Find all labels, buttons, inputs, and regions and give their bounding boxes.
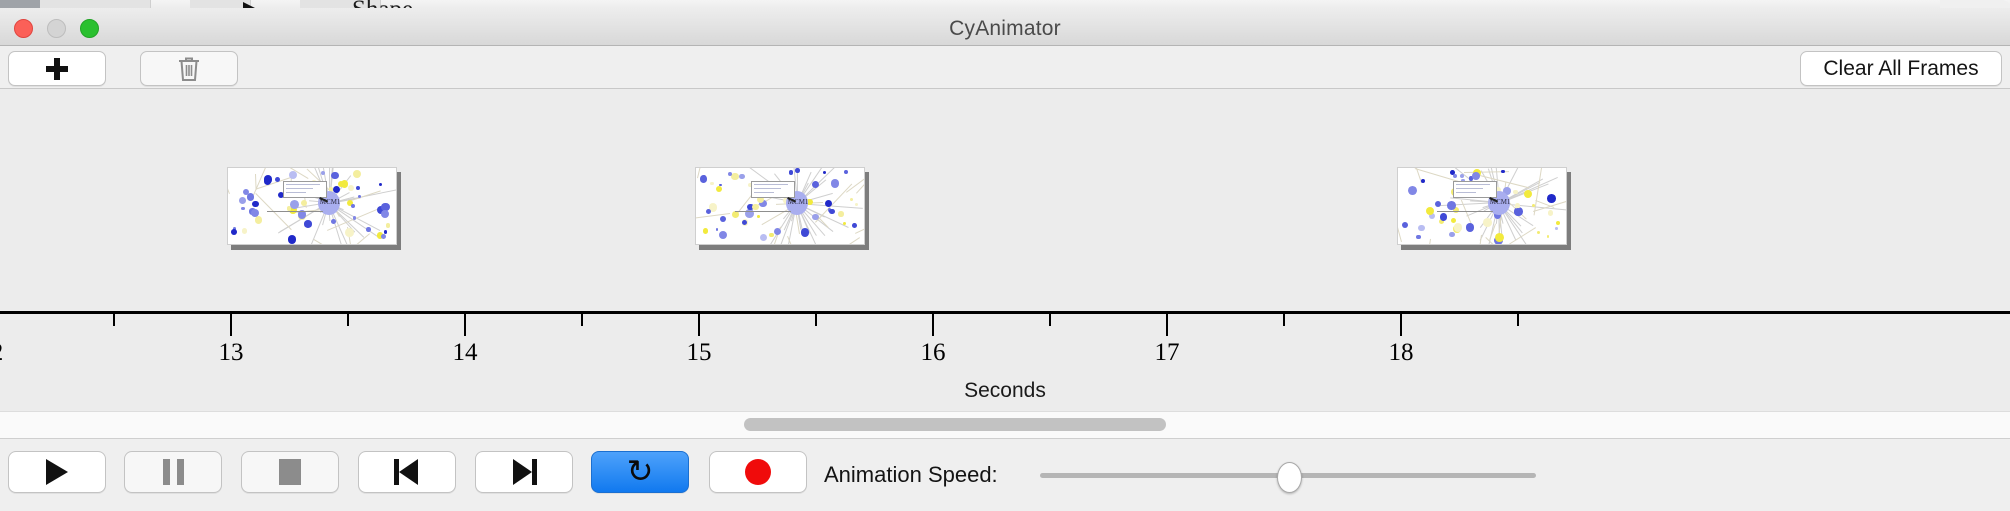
network-node (850, 198, 853, 201)
network-edge (351, 190, 381, 201)
frame-strip: MCM1MCM1MCM1 (0, 89, 2010, 311)
network-annotation-line (1456, 188, 1483, 189)
network-node (341, 180, 348, 187)
network-annotation-line (286, 188, 313, 189)
network-node (1418, 225, 1425, 232)
network-annotation-line (754, 192, 774, 193)
skip-to-end-button[interactable] (475, 451, 573, 493)
network-node (1408, 186, 1417, 195)
network-node (720, 216, 726, 222)
network-edge (846, 169, 865, 194)
network-node (251, 209, 259, 217)
network-node (1435, 201, 1441, 207)
network-edge (1475, 235, 1482, 245)
network-node (852, 223, 857, 228)
network-caption (735, 211, 791, 213)
clear-all-frames-button[interactable]: Clear All Frames (1800, 51, 2002, 86)
record-icon (745, 459, 771, 485)
network-node (366, 227, 371, 232)
clear-all-frames-label: Clear All Frames (1823, 57, 1978, 81)
slider-thumb[interactable] (1277, 462, 1302, 493)
network-node (239, 197, 246, 204)
network-node (1447, 201, 1456, 210)
network-node (381, 210, 389, 218)
network-node (252, 201, 259, 208)
axis-tick-label: 18 (1389, 339, 1414, 367)
animation-speed-slider[interactable] (1040, 463, 1536, 487)
network-node (1495, 233, 1504, 242)
axis-label: Seconds (0, 379, 2010, 403)
network-node (381, 234, 386, 239)
network-node (1556, 221, 1560, 225)
axis-tick-label: 17 (1155, 339, 1180, 367)
play-button[interactable] (8, 451, 106, 493)
network-node (345, 228, 354, 237)
network-node (700, 175, 707, 182)
network-node (1548, 210, 1554, 216)
window-title: CyAnimator (0, 17, 2010, 41)
loop-icon: ↻ (627, 455, 654, 487)
record-button[interactable] (709, 451, 807, 493)
network-node (843, 222, 846, 225)
network-node (823, 171, 826, 174)
network-node (289, 171, 297, 179)
axis-tick-minor (113, 314, 115, 326)
network-node (1537, 231, 1540, 234)
network-edge (1425, 238, 1431, 245)
network-node (356, 186, 360, 190)
network-node (774, 228, 781, 235)
timeline-scrollbar[interactable] (0, 411, 2010, 439)
network-node (1440, 213, 1447, 220)
axis-tick-label: 13 (219, 339, 244, 367)
network-caption (267, 211, 323, 213)
network-node (1524, 190, 1533, 199)
network-annotation-line (1456, 192, 1476, 193)
network-node (716, 228, 719, 231)
pause-button[interactable] (124, 451, 222, 493)
network-node (290, 200, 299, 209)
delete-frame-button[interactable] (140, 51, 238, 86)
network-node (831, 179, 839, 187)
network-node (351, 204, 356, 209)
skip-forward-icon (511, 459, 537, 485)
timeline-panel[interactable]: MCM1MCM1MCM1 2131415161718 Seconds (0, 89, 2010, 411)
playback-controls: ↻ Animation Speed: (0, 438, 2010, 511)
axis-tick-label: 15 (687, 339, 712, 367)
network-annotation-line (754, 188, 781, 189)
network-node (1449, 232, 1454, 237)
timeline-frame[interactable]: MCM1 (695, 167, 865, 245)
network-node (242, 228, 247, 233)
network-node (331, 172, 338, 179)
network-annotation-line (754, 184, 788, 185)
axis-tick-major (1400, 314, 1402, 336)
network-node (739, 174, 745, 180)
network-node (1472, 172, 1480, 180)
network-node (812, 181, 819, 188)
network-node (1421, 179, 1425, 183)
network-node (255, 216, 263, 224)
frame-thumbnail[interactable]: MCM1 (227, 167, 397, 245)
network-annotation-line (1456, 184, 1490, 185)
axis-tick-major (1166, 314, 1168, 336)
network-node (353, 170, 361, 178)
network-node (1555, 227, 1558, 230)
network-node (719, 231, 728, 240)
axis-tick-major (230, 314, 232, 336)
network-node (838, 211, 843, 216)
timeline-frame[interactable]: MCM1 (1397, 167, 1567, 245)
network-node (1416, 235, 1421, 240)
axis-tick-label: 2 (0, 339, 3, 367)
network-caption (1437, 211, 1493, 213)
network-node (386, 223, 390, 227)
network-node (348, 185, 354, 191)
network-node (243, 189, 249, 195)
network-node (1515, 203, 1520, 208)
network-edge (227, 167, 229, 194)
pause-icon (163, 459, 184, 485)
network-graph: MCM1 (696, 168, 864, 244)
axis-tick-major (932, 314, 934, 336)
skip-to-start-button[interactable] (358, 451, 456, 493)
axis-line (0, 311, 2010, 314)
network-node (231, 229, 237, 235)
network-node (353, 216, 356, 219)
animation-speed-label: Animation Speed: (824, 462, 998, 488)
network-node (1466, 223, 1474, 231)
axis-tick-minor (815, 314, 817, 326)
network-node (1402, 222, 1408, 228)
timeline-axis: 2131415161718 Seconds (0, 311, 2010, 411)
frame-thumbnail[interactable]: MCM1 (695, 167, 865, 245)
stop-icon (279, 459, 301, 485)
network-node (703, 228, 708, 233)
network-node (1483, 218, 1492, 227)
axis-tick-major (698, 314, 700, 336)
network-node (760, 234, 767, 241)
network-graph: MCM1 (1398, 168, 1566, 244)
title-bar: CyAnimator (0, 8, 2010, 46)
network-node (855, 203, 858, 206)
timeline-frame[interactable]: MCM1 (227, 167, 397, 245)
axis-tick-minor (581, 314, 583, 326)
skip-backward-icon (394, 459, 420, 485)
axis-tick-minor (1049, 314, 1051, 326)
network-node (1547, 194, 1556, 203)
toolbar: Clear All Frames (0, 46, 2010, 89)
network-node (789, 170, 793, 174)
network-node (1501, 170, 1505, 174)
network-node (379, 183, 382, 186)
network-node (706, 209, 711, 214)
stop-button[interactable] (241, 451, 339, 493)
plus-icon (46, 58, 68, 80)
network-node (1547, 235, 1550, 238)
frame-thumbnail[interactable]: MCM1 (1397, 167, 1567, 245)
network-node (1453, 174, 1457, 178)
network-node (825, 200, 832, 207)
axis-tick-major (464, 314, 466, 336)
network-node (1454, 223, 1462, 231)
axis-tick-minor (1517, 314, 1519, 326)
network-node (288, 235, 296, 243)
network-node (1460, 174, 1464, 178)
network-node (304, 220, 311, 227)
axis-tick-label: 14 (453, 339, 478, 367)
network-node (769, 233, 774, 238)
network-node (844, 170, 848, 174)
play-icon (46, 459, 68, 485)
network-node (752, 204, 759, 211)
network-node (716, 186, 722, 192)
timeline-scrollbar-thumb[interactable] (744, 418, 1166, 431)
network-node (710, 182, 714, 186)
cyanimator-window: Shape CyAnimator Clear All Frames (0, 0, 2010, 510)
network-node (795, 168, 800, 173)
network-graph: MCM1 (228, 168, 396, 244)
network-node (801, 228, 809, 236)
network-node (241, 207, 244, 210)
network-edge (846, 237, 860, 245)
network-node (829, 209, 835, 215)
axis-tick-label: 16 (921, 339, 946, 367)
axis-tick-minor (1283, 314, 1285, 326)
loop-button[interactable]: ↻ (591, 451, 689, 493)
network-node (757, 215, 760, 218)
network-annotation-line (286, 184, 320, 185)
trash-icon (177, 56, 201, 82)
network-annotation-line (286, 192, 306, 193)
add-frame-button[interactable] (8, 51, 106, 86)
network-node (1532, 204, 1535, 207)
axis-tick-minor (347, 314, 349, 326)
